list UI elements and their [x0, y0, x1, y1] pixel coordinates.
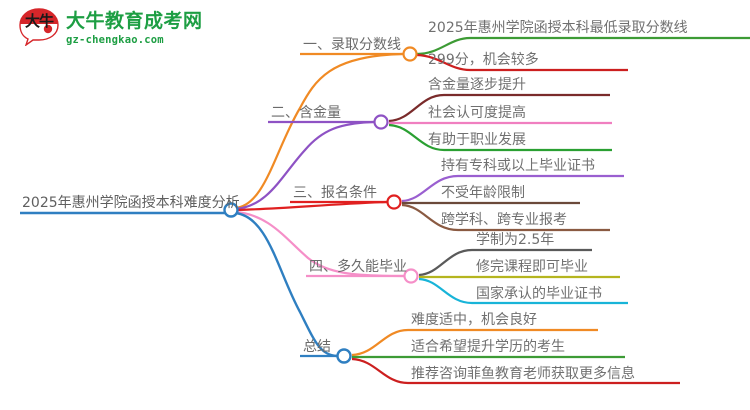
leaf-label-5-1[interactable]: 难度适中，机会良好	[411, 313, 537, 327]
edge-root-to-branch-3	[235, 202, 387, 210]
logo-domain: gz-chengkao.com	[66, 35, 203, 46]
root-node-label[interactable]: 2025年惠州学院函授本科难度分析	[22, 196, 240, 210]
branch-label-4[interactable]: 四、多久能毕业	[309, 260, 407, 274]
logo-mark-icon: 大牛	[18, 8, 60, 50]
node-branch-2[interactable]	[375, 116, 388, 129]
leaf-label-4-1[interactable]: 学制为2.5年	[476, 233, 554, 247]
leaf-label-2-1[interactable]: 含金量逐步提升	[428, 78, 526, 92]
leaf-label-5-3[interactable]: 推荐咨询菲鱼教育老师获取更多信息	[411, 367, 635, 381]
logo-mark-glyph: 大牛	[18, 14, 60, 30]
leaf-label-4-3[interactable]: 国家承认的毕业证书	[476, 287, 602, 301]
node-branch-1[interactable]	[404, 48, 417, 61]
leaf-label-2-2[interactable]: 社会认可度提高	[428, 106, 526, 120]
node-branch-3[interactable]	[388, 196, 401, 209]
edge-root-to-branch-5	[235, 213, 337, 356]
leaf-label-1-2[interactable]: 299分，机会较多	[428, 53, 539, 67]
leaf-label-4-2[interactable]: 修完课程即可毕业	[476, 260, 588, 274]
leaf-label-1-1[interactable]: 2025年惠州学院函授本科最低录取分数线	[428, 21, 688, 35]
logo-text-block: 大牛教育成考网 gz-chengkao.com	[66, 12, 203, 46]
branch-label-3[interactable]: 三、报名条件	[293, 186, 377, 200]
leaf-label-3-1[interactable]: 持有专科或以上毕业证书	[441, 159, 595, 173]
node-branch-5[interactable]	[338, 350, 351, 363]
logo-title: 大牛教育成考网	[66, 12, 203, 31]
site-logo: 大牛 大牛教育成考网 gz-chengkao.com	[18, 8, 203, 50]
branch-label-1[interactable]: 一、录取分数线	[303, 38, 401, 52]
leaf-label-3-2[interactable]: 不受年龄限制	[441, 186, 525, 200]
leaf-label-3-3[interactable]: 跨学科、跨专业报考	[441, 213, 567, 227]
leaf-label-2-3[interactable]: 有助于职业发展	[428, 133, 526, 147]
leaf-label-5-2[interactable]: 适合希望提升学历的考生	[411, 340, 565, 354]
branch-label-2[interactable]: 二、含金量	[271, 106, 341, 120]
branch-label-5[interactable]: 总结	[303, 340, 331, 354]
